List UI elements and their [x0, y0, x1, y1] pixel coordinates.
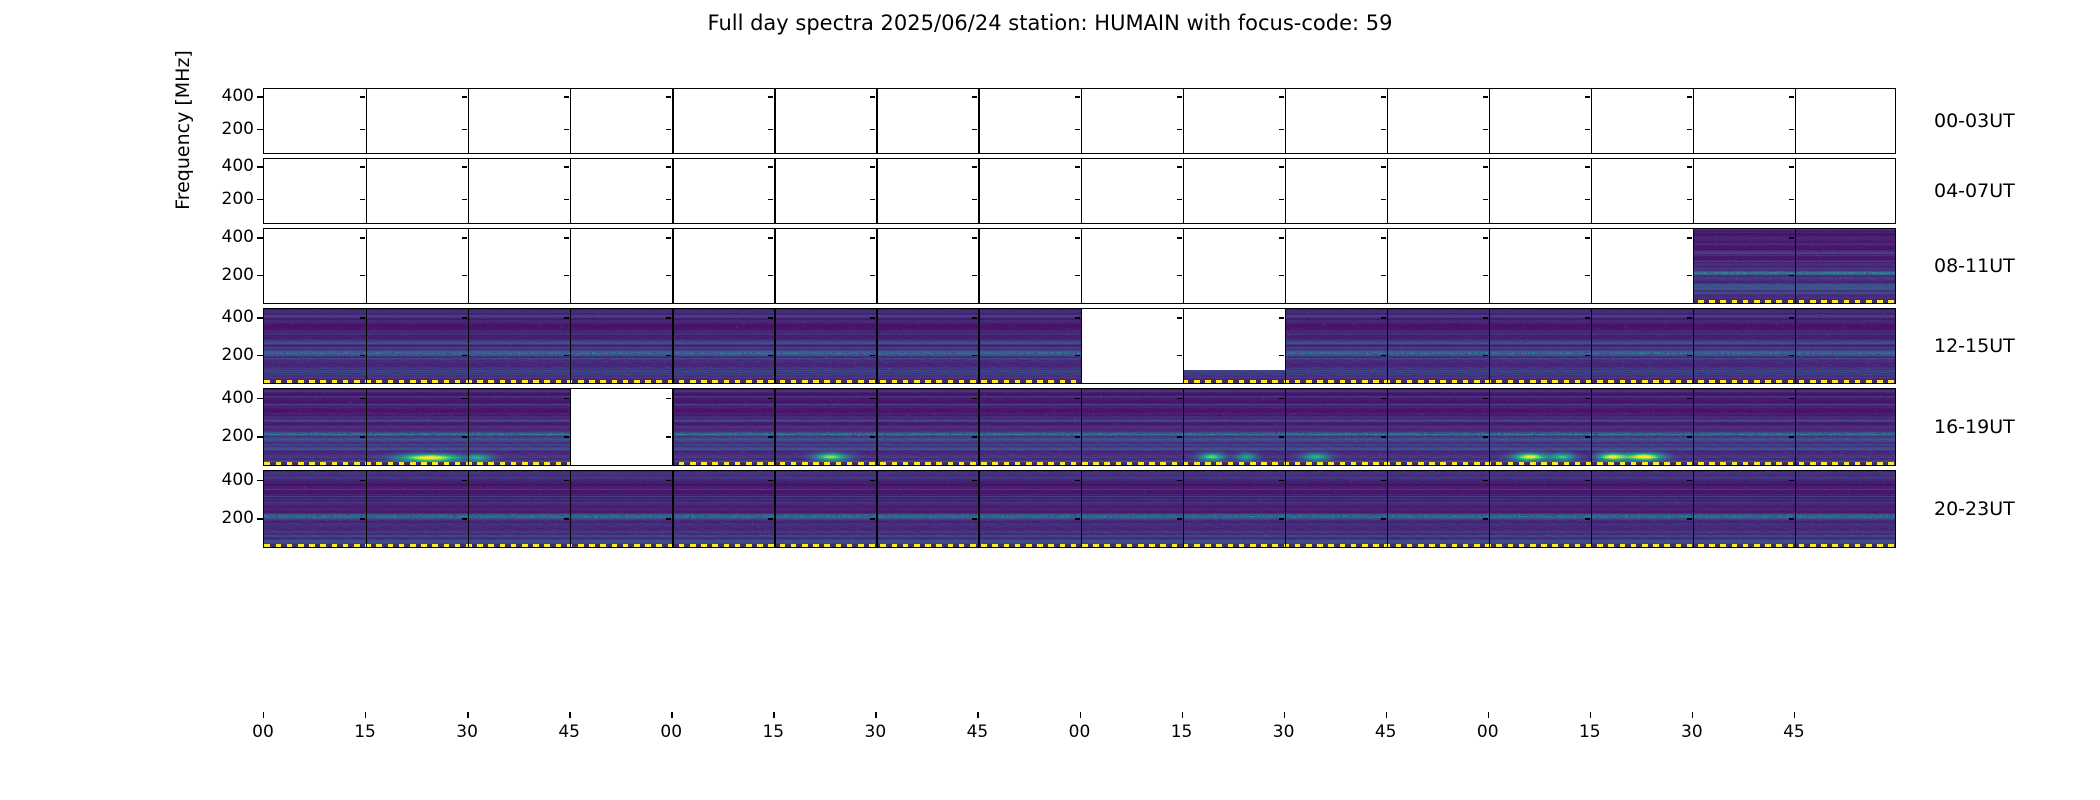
panel-divider	[1489, 389, 1490, 465]
panel-y-tick	[666, 480, 671, 481]
panel-y-tick	[768, 317, 773, 318]
panel-divider	[570, 229, 571, 303]
panel-y-tick	[666, 436, 671, 437]
panel-y-tick	[1177, 480, 1182, 481]
x-tick-label: 00	[1477, 722, 1499, 742]
y-tick-label: 400	[222, 388, 254, 408]
panel-divider	[1693, 229, 1694, 303]
panel-y-tick	[1279, 237, 1284, 238]
x-tick	[773, 712, 774, 718]
panel-divider	[1795, 229, 1796, 303]
panel-y-tick	[1177, 129, 1182, 130]
row-label-08-11ut: 08-11UT	[1934, 255, 2015, 277]
panel-divider	[672, 229, 673, 303]
panel-y-tick	[1585, 199, 1590, 200]
panel-y-tick	[1075, 436, 1080, 437]
panel-y-tick	[1177, 199, 1182, 200]
panel-y-tick	[1279, 166, 1284, 167]
panel-y-tick	[1687, 436, 1692, 437]
panel-divider	[672, 389, 673, 465]
panel-y-tick	[870, 275, 875, 276]
panel-y-tick	[1075, 166, 1080, 167]
panel-y-tick	[972, 129, 977, 130]
panel-y-tick	[360, 518, 365, 519]
panel-y-tick	[564, 317, 569, 318]
panel-y-tick	[1279, 518, 1284, 519]
panel-y-tick	[1381, 518, 1386, 519]
row-label-20-23ut: 20-23UT	[1934, 498, 2015, 520]
panel-y-tick	[462, 355, 467, 356]
x-tick-label: 45	[558, 722, 580, 742]
panel-y-tick	[1279, 275, 1284, 276]
panel-y-tick	[360, 317, 365, 318]
y-tick	[257, 129, 263, 130]
x-tick-label: 15	[1579, 722, 1601, 742]
panel-y-tick	[1687, 199, 1692, 200]
panel-divider	[1795, 309, 1796, 383]
panel-y-tick	[1789, 96, 1794, 97]
panel-y-tick	[564, 199, 569, 200]
panel-divider	[978, 471, 979, 547]
x-tick-label: 00	[252, 722, 274, 742]
panel-y-tick	[1381, 355, 1386, 356]
y-tick	[257, 355, 263, 356]
axes-frame	[263, 88, 1896, 154]
panel-divider	[1693, 389, 1694, 465]
y-tick-label: 200	[222, 265, 254, 285]
row-label-04-07ut: 04-07UT	[1934, 180, 2015, 202]
panel-divider	[1183, 389, 1184, 465]
y-tick	[257, 96, 263, 97]
panel-divider	[1285, 159, 1286, 223]
panel-divider	[468, 389, 469, 465]
panel-y-tick	[1585, 518, 1590, 519]
panel-divider	[1795, 471, 1796, 547]
x-tick	[875, 712, 876, 718]
panel-y-tick	[972, 480, 977, 481]
y-tick-label: 400	[222, 470, 254, 490]
panel-divider	[1591, 309, 1592, 383]
panel-y-tick	[666, 518, 671, 519]
panel-y-tick	[1381, 96, 1386, 97]
panel-y-tick	[870, 237, 875, 238]
x-tick-label: 00	[1069, 722, 1091, 742]
panel-y-tick	[1483, 275, 1488, 276]
panel-y-tick	[972, 96, 977, 97]
y-tick-label: 400	[222, 156, 254, 176]
x-tick	[1182, 712, 1183, 718]
panel-y-tick	[666, 317, 671, 318]
panel-y-tick	[1279, 96, 1284, 97]
panel-y-tick	[1177, 237, 1182, 238]
axes-frame	[263, 228, 1896, 304]
panel-divider	[876, 309, 877, 383]
panel-y-tick	[1789, 355, 1794, 356]
panel-y-tick	[870, 518, 875, 519]
panel-divider	[1285, 389, 1286, 465]
panel-y-tick	[1381, 275, 1386, 276]
panel-y-tick	[1789, 199, 1794, 200]
panel-y-tick	[666, 166, 671, 167]
panel-y-tick	[768, 166, 773, 167]
panel-y-tick	[1075, 199, 1080, 200]
panel-divider	[978, 89, 979, 153]
panel-y-tick	[1075, 96, 1080, 97]
panel-divider	[978, 389, 979, 465]
panel-divider	[1081, 389, 1082, 465]
panel-y-tick	[870, 436, 875, 437]
panel-y-tick	[462, 129, 467, 130]
panel-y-tick	[564, 518, 569, 519]
panel-y-tick	[666, 355, 671, 356]
y-tick-label: 200	[222, 508, 254, 528]
panel-y-tick	[1177, 398, 1182, 399]
panel-y-tick	[462, 480, 467, 481]
panel-y-tick	[1075, 237, 1080, 238]
panel-divider	[468, 159, 469, 223]
x-tick	[365, 712, 366, 718]
panel-y-tick	[1585, 275, 1590, 276]
y-tick	[257, 398, 263, 399]
panel-divider	[1795, 159, 1796, 223]
panel-y-tick	[462, 199, 467, 200]
x-tick-label: 45	[967, 722, 989, 742]
x-tick	[1080, 712, 1081, 718]
panel-y-tick	[972, 166, 977, 167]
panel-y-tick	[1789, 398, 1794, 399]
panel-y-tick	[1177, 166, 1182, 167]
panel-divider	[1693, 471, 1694, 547]
panel-y-tick	[972, 355, 977, 356]
panel-y-tick	[1075, 355, 1080, 356]
panel-y-tick	[972, 518, 977, 519]
x-tick	[569, 712, 570, 718]
panel-divider	[1183, 471, 1184, 547]
panel-y-tick	[1687, 166, 1692, 167]
panel-y-tick	[1687, 480, 1692, 481]
x-tick-label: 30	[456, 722, 478, 742]
panel-divider	[1081, 471, 1082, 547]
y-tick-label: 400	[222, 86, 254, 106]
x-tick	[1386, 712, 1387, 718]
y-tick	[257, 275, 263, 276]
x-tick-label: 30	[865, 722, 887, 742]
panel-y-tick	[1585, 355, 1590, 356]
x-tick-label: 45	[1783, 722, 1805, 742]
panel-divider	[1693, 309, 1694, 383]
panel-y-tick	[564, 355, 569, 356]
x-tick-label: 15	[762, 722, 784, 742]
panel-divider	[672, 89, 673, 153]
panel-y-tick	[1177, 355, 1182, 356]
panel-y-tick	[1381, 166, 1386, 167]
panel-y-tick	[1789, 436, 1794, 437]
panel-y-tick	[972, 398, 977, 399]
panel-divider	[1285, 309, 1286, 383]
panel-divider	[1795, 89, 1796, 153]
panel-y-tick	[1789, 480, 1794, 481]
figure-title: Full day spectra 2025/06/24 station: HUM…	[0, 10, 2100, 36]
panel-divider	[774, 159, 775, 223]
row-label-12-15ut: 12-15UT	[1934, 335, 2015, 357]
spectrogram-row-08-11ut[interactable]: 20040008-11UT	[263, 228, 1896, 304]
panel-y-tick	[1789, 129, 1794, 130]
panel-y-tick	[870, 166, 875, 167]
panel-y-tick	[564, 237, 569, 238]
y-tick-label: 200	[222, 119, 254, 139]
axes-frame	[263, 388, 1896, 466]
panel-y-tick	[1789, 237, 1794, 238]
panel-y-tick	[564, 275, 569, 276]
row-label-16-19ut: 16-19UT	[1934, 416, 2015, 438]
panel-y-tick	[1177, 436, 1182, 437]
panel-y-tick	[666, 96, 671, 97]
panel-divider	[1081, 159, 1082, 223]
panel-y-tick	[1585, 480, 1590, 481]
panel-y-tick	[870, 129, 875, 130]
panel-divider	[1591, 389, 1592, 465]
panel-divider	[876, 389, 877, 465]
y-tick	[257, 518, 263, 519]
panel-y-tick	[1687, 237, 1692, 238]
panel-y-tick	[360, 237, 365, 238]
panel-divider	[468, 309, 469, 383]
panel-y-tick	[462, 518, 467, 519]
panel-divider	[1285, 89, 1286, 153]
panel-divider	[366, 309, 367, 383]
panel-divider	[1489, 229, 1490, 303]
panel-y-tick	[1687, 355, 1692, 356]
panel-divider	[1183, 89, 1184, 153]
y-tick	[257, 199, 263, 200]
panel-y-tick	[462, 436, 467, 437]
panel-y-tick	[768, 199, 773, 200]
y-tick	[257, 166, 263, 167]
panel-y-tick	[1687, 96, 1692, 97]
panel-y-tick	[1585, 237, 1590, 238]
panel-y-tick	[1381, 398, 1386, 399]
x-tick	[1488, 712, 1489, 718]
panel-divider	[876, 471, 877, 547]
panel-divider	[978, 159, 979, 223]
panel-y-tick	[1585, 317, 1590, 318]
panel-y-tick	[462, 166, 467, 167]
panel-y-tick	[972, 237, 977, 238]
panel-divider	[1387, 159, 1388, 223]
panel-divider	[1183, 159, 1184, 223]
panel-divider	[1081, 89, 1082, 153]
panel-divider	[876, 89, 877, 153]
panel-divider	[1591, 89, 1592, 153]
axes-frame	[263, 470, 1896, 548]
panel-y-tick	[1687, 275, 1692, 276]
panel-y-tick	[1075, 129, 1080, 130]
x-tick-label: 00	[660, 722, 682, 742]
panel-y-tick	[870, 317, 875, 318]
x-tick	[671, 712, 672, 718]
panel-divider	[1285, 229, 1286, 303]
panel-y-tick	[666, 237, 671, 238]
spectrogram-row-20-23ut[interactable]: 20040020-23UT	[263, 470, 1896, 548]
panel-divider	[1489, 159, 1490, 223]
spectrogram-row-00-03ut[interactable]: 20040000-03UT	[263, 88, 1896, 154]
panel-divider	[468, 89, 469, 153]
panel-y-tick	[1381, 237, 1386, 238]
spectrogram-row-04-07ut[interactable]: 20040004-07UT	[263, 158, 1896, 224]
panel-y-tick	[1381, 436, 1386, 437]
panel-y-tick	[1177, 96, 1182, 97]
panel-y-tick	[1687, 398, 1692, 399]
panel-y-tick	[1789, 166, 1794, 167]
panel-divider	[1489, 309, 1490, 383]
spectrogram-figure: Full day spectra 2025/06/24 station: HUM…	[0, 0, 2100, 800]
panel-y-tick	[360, 480, 365, 481]
panel-y-tick	[1585, 129, 1590, 130]
x-tick	[1284, 712, 1285, 718]
panel-y-tick	[1483, 129, 1488, 130]
panel-y-tick	[666, 398, 671, 399]
panel-y-tick	[972, 436, 977, 437]
panel-divider	[468, 471, 469, 547]
panel-divider	[1591, 159, 1592, 223]
panel-y-tick	[768, 355, 773, 356]
panel-divider	[1081, 309, 1082, 383]
panel-y-tick	[564, 166, 569, 167]
panel-divider	[978, 309, 979, 383]
panel-y-tick	[1075, 398, 1080, 399]
panel-y-tick	[870, 398, 875, 399]
panel-y-tick	[360, 275, 365, 276]
panel-divider	[1387, 471, 1388, 547]
panel-divider	[570, 89, 571, 153]
panel-divider	[366, 159, 367, 223]
panel-divider	[672, 471, 673, 547]
panel-y-tick	[1483, 96, 1488, 97]
panel-y-tick	[360, 199, 365, 200]
panel-y-tick	[666, 129, 671, 130]
panel-y-tick	[1585, 166, 1590, 167]
panel-divider	[570, 309, 571, 383]
y-tick	[257, 237, 263, 238]
panel-y-tick	[1177, 518, 1182, 519]
panel-y-tick	[768, 436, 773, 437]
panel-y-tick	[1585, 436, 1590, 437]
panel-y-tick	[360, 166, 365, 167]
panel-y-tick	[666, 275, 671, 276]
x-tick	[1794, 712, 1795, 718]
panel-y-tick	[1789, 518, 1794, 519]
panel-divider	[1387, 89, 1388, 153]
panel-y-tick	[1075, 518, 1080, 519]
x-tick-label: 15	[354, 722, 376, 742]
panel-y-tick	[768, 129, 773, 130]
panel-divider	[570, 159, 571, 223]
panel-divider	[1183, 309, 1184, 383]
panel-y-tick	[360, 96, 365, 97]
panel-y-tick	[1483, 355, 1488, 356]
panel-divider	[1081, 229, 1082, 303]
panel-y-tick	[768, 96, 773, 97]
axes-frame	[263, 158, 1896, 224]
panel-divider	[1693, 159, 1694, 223]
y-tick	[257, 436, 263, 437]
panel-divider	[570, 389, 571, 465]
panel-divider	[774, 471, 775, 547]
panel-divider	[672, 159, 673, 223]
panel-y-tick	[1279, 199, 1284, 200]
x-tick-label: 30	[1273, 722, 1295, 742]
x-tick-label: 30	[1681, 722, 1703, 742]
panel-y-tick	[1483, 237, 1488, 238]
panel-divider	[1387, 309, 1388, 383]
panel-y-tick	[870, 96, 875, 97]
panel-y-tick	[666, 199, 671, 200]
x-axis: 00153045001530450015304500153045	[263, 712, 1896, 756]
panel-y-tick	[462, 317, 467, 318]
panel-y-tick	[870, 480, 875, 481]
row-label-00-03ut: 00-03UT	[1934, 110, 2015, 132]
panel-y-tick	[1483, 518, 1488, 519]
panel-y-tick	[1687, 129, 1692, 130]
y-tick-label: 200	[222, 189, 254, 209]
panel-y-tick	[1381, 317, 1386, 318]
panel-y-tick	[462, 237, 467, 238]
panel-divider	[774, 229, 775, 303]
panel-y-tick	[972, 317, 977, 318]
panel-divider	[570, 471, 571, 547]
panel-y-tick	[360, 355, 365, 356]
panel-y-tick	[1585, 96, 1590, 97]
x-tick	[1692, 712, 1693, 718]
panel-y-tick	[360, 398, 365, 399]
spectrogram-row-12-15ut[interactable]: 20040012-15UT	[263, 308, 1896, 384]
panel-y-tick	[1279, 317, 1284, 318]
panel-divider	[774, 309, 775, 383]
panel-divider	[1591, 471, 1592, 547]
panel-y-tick	[1075, 480, 1080, 481]
panel-y-tick	[1279, 398, 1284, 399]
panel-divider	[774, 89, 775, 153]
panel-divider	[366, 229, 367, 303]
y-tick-label: 400	[222, 307, 254, 327]
spectrogram-row-16-19ut[interactable]: 20040016-19UT	[263, 388, 1896, 466]
x-tick	[1590, 712, 1591, 718]
panel-divider	[366, 389, 367, 465]
panel-y-tick	[1483, 436, 1488, 437]
panel-divider	[1693, 89, 1694, 153]
panel-y-tick	[462, 275, 467, 276]
panel-y-tick	[1279, 480, 1284, 481]
panel-y-tick	[1483, 398, 1488, 399]
panel-y-tick	[768, 237, 773, 238]
panel-divider	[774, 389, 775, 465]
panel-y-tick	[1279, 436, 1284, 437]
panel-divider	[876, 229, 877, 303]
panel-divider	[1387, 229, 1388, 303]
panel-y-tick	[768, 480, 773, 481]
panel-divider	[366, 89, 367, 153]
panel-divider	[366, 471, 367, 547]
x-tick-label: 45	[1375, 722, 1397, 742]
x-tick	[263, 712, 264, 718]
panel-y-tick	[1177, 317, 1182, 318]
panel-y-tick	[564, 436, 569, 437]
y-tick	[257, 480, 263, 481]
x-tick-label: 15	[1171, 722, 1193, 742]
panel-divider	[1387, 389, 1388, 465]
panel-divider	[1285, 471, 1286, 547]
y-axis-label: Frequency [MHz]	[172, 0, 194, 290]
